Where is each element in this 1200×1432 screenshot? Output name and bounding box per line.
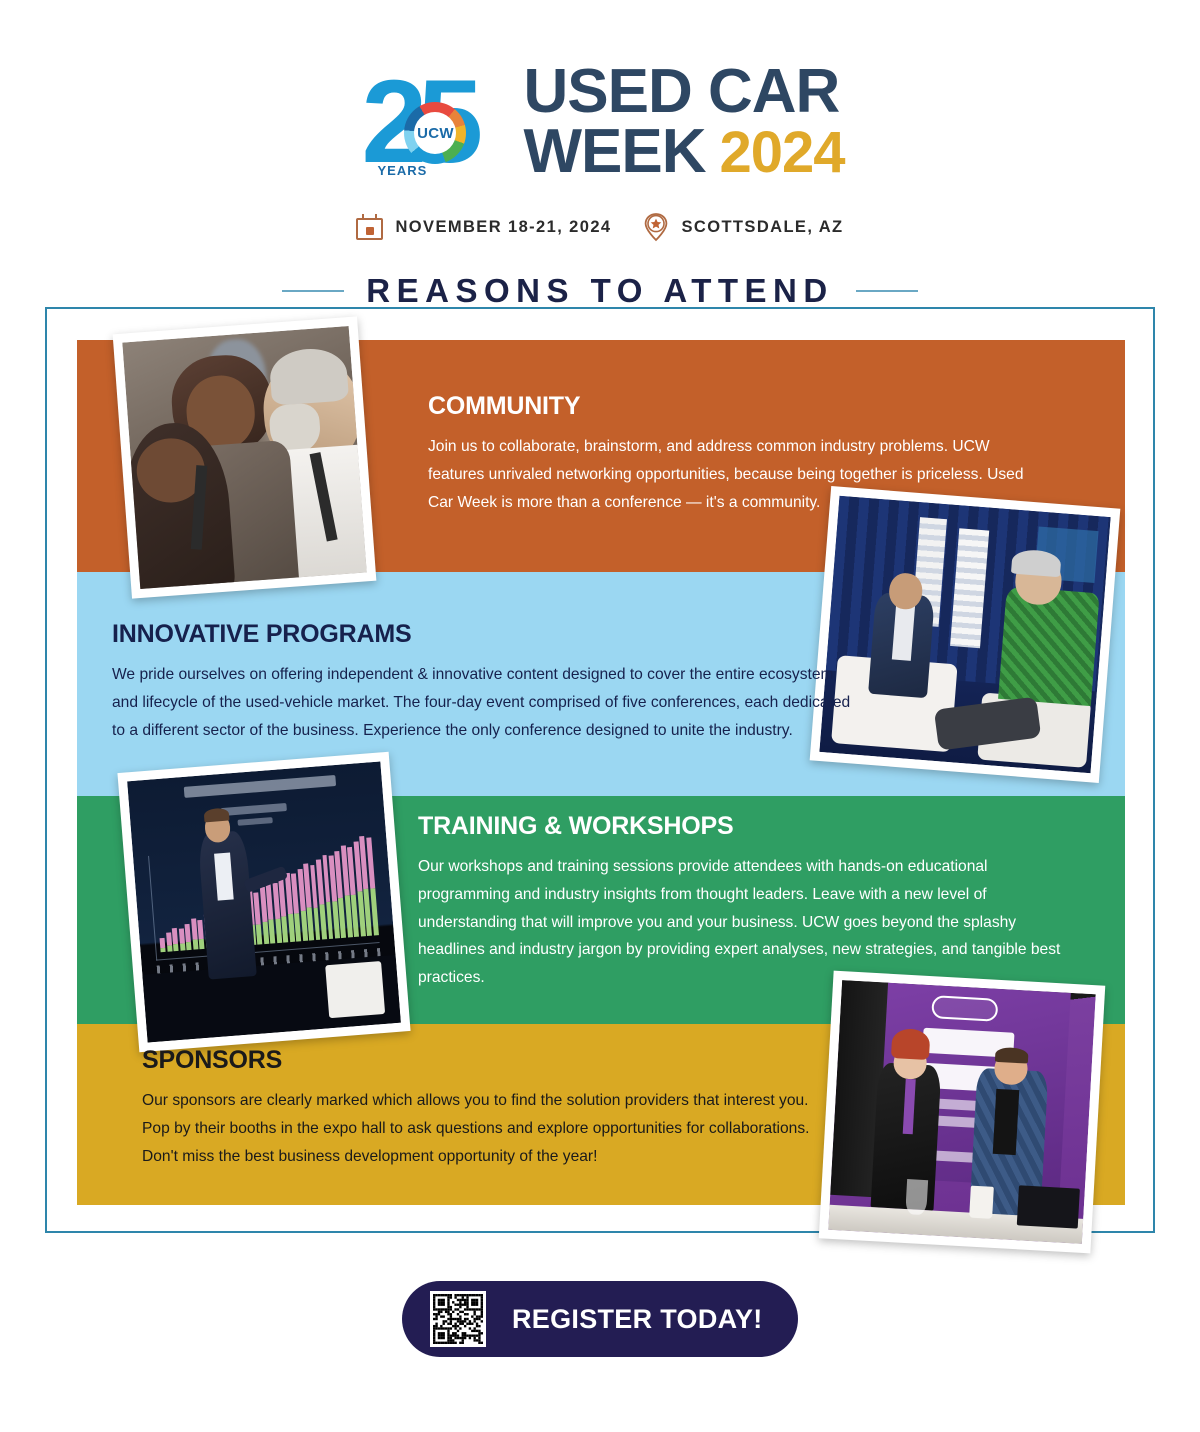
photo-expo-booth-cars-com bbox=[819, 971, 1106, 1254]
photo-networking-handshake bbox=[113, 316, 377, 598]
calendar-icon bbox=[356, 214, 383, 240]
reason-sponsors: SPONSORS Our sponsors are clearly marked… bbox=[142, 1046, 822, 1170]
title-line-2: WEEK bbox=[523, 121, 705, 183]
reason-training-workshops-heading: TRAINING & WORKSHOPS bbox=[418, 812, 1078, 841]
register-today-button[interactable]: REGISTER TODAY! bbox=[402, 1281, 798, 1357]
event-title: USED CAR WEEK 2024 bbox=[523, 62, 844, 184]
reason-innovative-programs-body: We pride ourselves on offering independe… bbox=[112, 661, 852, 744]
rule-right bbox=[856, 290, 918, 292]
reason-training-workshops: TRAINING & WORKSHOPS Our workshops and t… bbox=[418, 812, 1078, 992]
photo-keynote-speaker-chart bbox=[117, 752, 410, 1052]
header: 25 2 5 UCW YEARS USED CAR WEEK 2024 bbox=[0, 0, 1200, 270]
anniversary-badge-25: 25 2 5 UCW YEARS bbox=[355, 55, 505, 190]
rule-left bbox=[282, 290, 344, 292]
event-date-text: NOVEMBER 18-21, 2024 bbox=[395, 218, 611, 237]
map-pin-star-icon bbox=[642, 212, 670, 242]
reason-training-workshops-body: Our workshops and training sessions prov… bbox=[418, 853, 1078, 992]
ucw-ring-label: UCW bbox=[417, 125, 454, 142]
event-date: NOVEMBER 18-21, 2024 bbox=[356, 214, 611, 240]
title-year: 2024 bbox=[719, 124, 844, 182]
event-logo: 25 2 5 UCW YEARS USED CAR WEEK 2024 bbox=[0, 55, 1200, 190]
event-location-text: SCOTTSDALE, AZ bbox=[682, 218, 844, 237]
reason-innovative-programs-heading: INNOVATIVE PROGRAMS bbox=[112, 620, 852, 649]
page-title: REASONS TO ATTEND bbox=[366, 272, 833, 310]
event-meta: NOVEMBER 18-21, 2024 SCOTTSDALE, AZ bbox=[0, 212, 1200, 242]
reason-community-heading: COMMUNITY bbox=[428, 392, 1048, 421]
section-title-row: REASONS TO ATTEND bbox=[0, 272, 1200, 310]
title-line-1: USED CAR bbox=[523, 62, 844, 122]
event-location: SCOTTSDALE, AZ bbox=[642, 212, 844, 242]
flyer-page: 25 2 5 UCW YEARS USED CAR WEEK 2024 bbox=[0, 0, 1200, 1432]
register-today-label: REGISTER TODAY! bbox=[512, 1304, 763, 1335]
reason-sponsors-heading: SPONSORS bbox=[142, 1046, 822, 1075]
badge-years-label: YEARS bbox=[377, 163, 427, 178]
reason-innovative-programs: INNOVATIVE PROGRAMS We pride ourselves o… bbox=[112, 620, 852, 744]
qr-code-icon[interactable] bbox=[430, 1291, 486, 1347]
photo-stage-panel-discussion bbox=[810, 486, 1121, 783]
reason-sponsors-body: Our sponsors are clearly marked which al… bbox=[142, 1087, 822, 1170]
